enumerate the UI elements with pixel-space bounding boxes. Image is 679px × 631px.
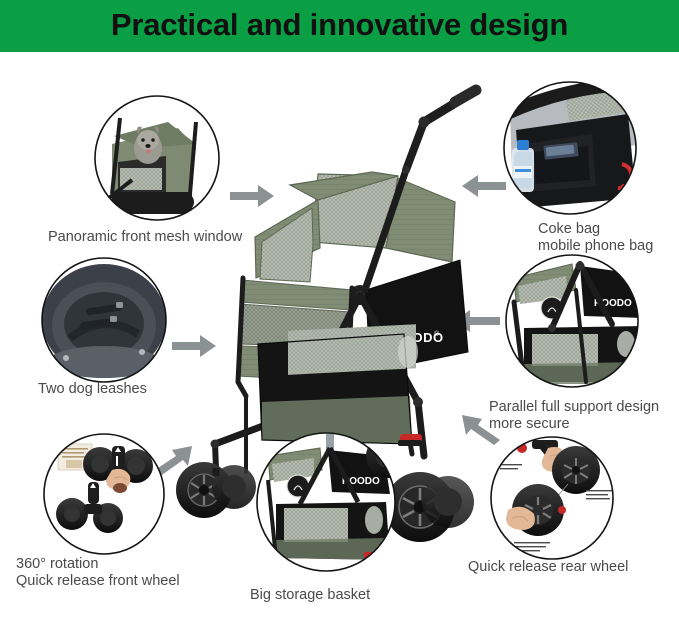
callout-label-360-rotation-quick-release-front-wheel: 360° rotation Quick release front wheel	[16, 556, 180, 590]
arrow-leashes	[172, 335, 216, 357]
front-wheel-assembly	[176, 462, 256, 518]
callout-label-quick-release-rear-wheel: Quick release rear wheel	[468, 559, 628, 576]
svg-text:®: ®	[434, 330, 440, 338]
arrow-panoramic	[230, 185, 274, 207]
inset-panoramic-front-mesh-window	[95, 96, 219, 220]
product-illustration-area: ROODO ®	[0, 52, 679, 631]
callout-label-parallel-full-support-design: Parallel full support design more secure	[489, 399, 659, 433]
callout-label-coke-bag-mobile-phone-bag: Coke bag mobile phone bag	[538, 221, 653, 255]
stroller-handlebar	[406, 90, 476, 170]
page-title: Practical and innovative design	[0, 0, 679, 52]
inset-360-rotation-quick-release-front-wheel	[44, 434, 164, 554]
callout-label-two-dog-leashes: Two dog leashes	[38, 381, 147, 398]
inset-quick-release-rear-wheel	[491, 437, 613, 559]
infographic-page: Practical and innovative design	[0, 0, 679, 631]
inset-parallel-full-support-design: ROODO	[506, 255, 644, 387]
callout-label-panoramic-front-mesh-window: Panoramic front mesh window	[48, 229, 242, 246]
big-storage-basket	[258, 324, 418, 444]
arrow-coke	[462, 175, 506, 197]
inset-big-storage-basket: ROODO	[257, 433, 410, 571]
inset-two-dog-leashes	[42, 258, 166, 382]
rear-wheel-assembly	[385, 472, 474, 542]
inset-coke-bag-mobile-phone-bag	[504, 76, 640, 214]
rear-brake-pedal	[398, 434, 422, 446]
callout-label-big-storage-basket: Big storage basket	[250, 587, 370, 604]
